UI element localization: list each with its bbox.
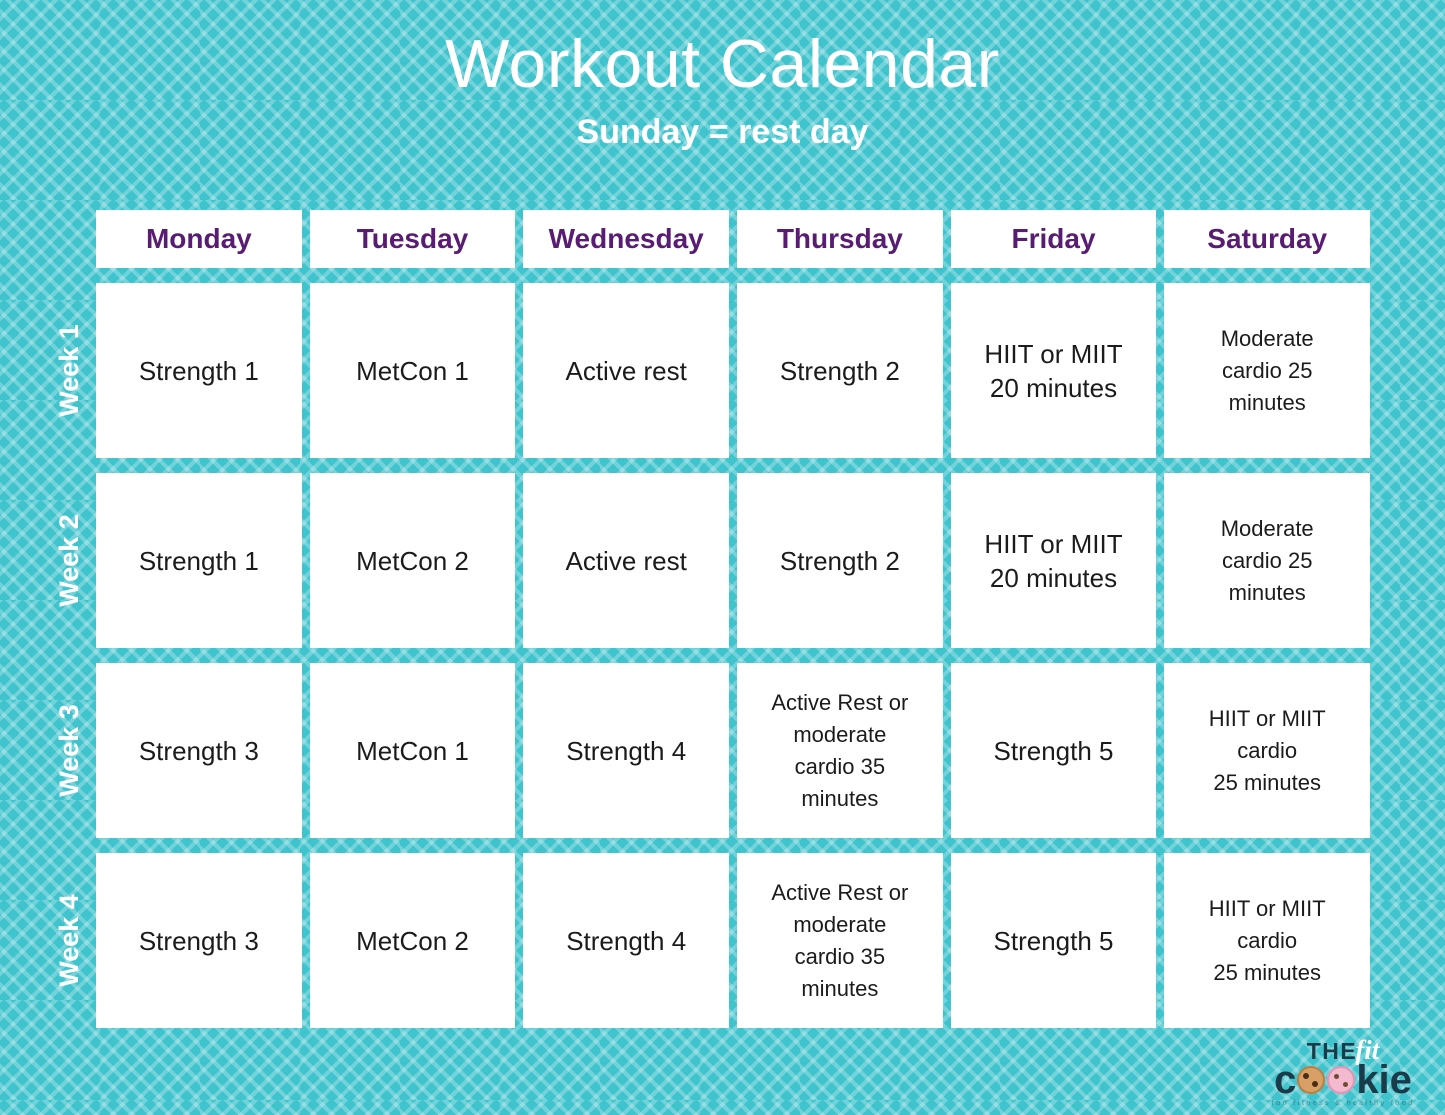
week-label-week-1: Week 1 [42,283,96,458]
cell-text: Strength 3 [139,924,259,958]
cell-text: Strength 2 [780,354,900,388]
cell-week3-friday[interactable]: Strength 5 [951,663,1157,838]
cell-text: Strength 1 [139,354,259,388]
cell-week3-wednesday[interactable]: Strength 4 [523,663,729,838]
cell-text: HIIT or MIIT 20 minutes [984,527,1122,595]
cell-week1-thursday[interactable]: Strength 2 [737,283,943,458]
week-3-cells: Strength 3 MetCon 1 Strength 4 Active Re… [96,663,1370,838]
calendar-row-week-4: Week 4 Strength 3 MetCon 2 Strength 4 Ac… [42,853,1370,1028]
calendar-row-week-3: Week 3 Strength 3 MetCon 1 Strength 4 Ac… [42,663,1370,838]
page-content: Workout Calendar Sunday = rest day Monda… [0,0,1445,1115]
calendar-grid: Monday Tuesday Wednesday Thursday Friday [42,210,1370,1028]
day-header-saturday[interactable]: Saturday [1164,210,1370,268]
calendar-header-row: Monday Tuesday Wednesday Thursday Friday [42,210,1370,268]
cell-week1-monday[interactable]: Strength 1 [96,283,302,458]
cell-week2-tuesday[interactable]: MetCon 2 [310,473,516,648]
day-header-friday[interactable]: Friday [951,210,1157,268]
cell-text: Strength 5 [994,734,1114,768]
week-2-cells: Strength 1 MetCon 2 Active rest Strength… [96,473,1370,648]
week-4-cells: Strength 3 MetCon 2 Strength 4 Active Re… [96,853,1370,1028]
day-header-thursday[interactable]: Thursday [737,210,943,268]
cell-text: Strength 4 [566,734,686,768]
week-label-text: Week 3 [54,704,85,797]
cell-week1-saturday[interactable]: Moderate cardio 25 minutes [1164,283,1370,458]
day-header-label: Friday [1012,223,1096,255]
cell-week2-saturday[interactable]: Moderate cardio 25 minutes [1164,473,1370,648]
week-label-week-3: Week 3 [42,663,96,838]
cell-week4-saturday[interactable]: HIIT or MIIT cardio 25 minutes [1164,853,1370,1028]
cell-text: Active rest [565,544,686,578]
cell-text: HIIT or MIIT 20 minutes [984,337,1122,405]
day-header-label: Wednesday [549,223,704,255]
cell-text: MetCon 1 [356,354,469,388]
cell-text: HIIT or MIIT cardio 25 minutes [1209,703,1326,799]
cell-text: HIIT or MIIT cardio 25 minutes [1209,893,1326,989]
cell-week1-wednesday[interactable]: Active rest [523,283,729,458]
day-header-label: Tuesday [357,223,469,255]
logo-the-text: THE [1307,1038,1358,1064]
week-label-week-2: Week 2 [42,473,96,648]
day-header-wednesday[interactable]: Wednesday [523,210,729,268]
week-label-text: Week 4 [54,894,85,987]
page-title: Workout Calendar [0,24,1445,104]
cell-text: Moderate cardio 25 minutes [1221,513,1314,609]
cell-text: Active Rest or moderate cardio 35 minute… [771,877,908,1005]
cell-week4-tuesday[interactable]: MetCon 2 [310,853,516,1028]
cell-week1-tuesday[interactable]: MetCon 1 [310,283,516,458]
thefitcookie-logo[interactable]: THEfit c kie fun fitness & healthy food [1259,1037,1427,1109]
cell-week3-tuesday[interactable]: MetCon 1 [310,663,516,838]
cell-text: Strength 1 [139,544,259,578]
week-label-week-4: Week 4 [42,853,96,1028]
week-label-spacer [42,210,96,268]
cell-week3-saturday[interactable]: HIIT or MIIT cardio 25 minutes [1164,663,1370,838]
cell-text: Moderate cardio 25 minutes [1221,323,1314,419]
cell-week3-monday[interactable]: Strength 3 [96,663,302,838]
calendar-row-week-2: Week 2 Strength 1 MetCon 2 Active rest S… [42,473,1370,648]
day-header-label: Saturday [1207,223,1327,255]
cell-week2-monday[interactable]: Strength 1 [96,473,302,648]
cell-week2-thursday[interactable]: Strength 2 [737,473,943,648]
workout-calendar-page: Workout Calendar Sunday = rest day Monda… [0,0,1445,1115]
cell-text: Strength 5 [994,924,1114,958]
cell-text: Active Rest or moderate cardio 35 minute… [771,687,908,815]
row-divider [42,458,1370,473]
row-divider [42,268,1370,283]
cookie-icon [1297,1066,1325,1094]
cell-week3-thursday[interactable]: Active Rest or moderate cardio 35 minute… [737,663,943,838]
day-header-cells: Monday Tuesday Wednesday Thursday Friday [96,210,1370,268]
cell-text: Strength 4 [566,924,686,958]
week-label-text: Week 1 [54,324,85,417]
logo-cookie-word: c kie [1259,1063,1427,1097]
day-header-tuesday[interactable]: Tuesday [310,210,516,268]
title-block: Workout Calendar Sunday = rest day [0,0,1445,156]
cell-text: Strength 2 [780,544,900,578]
cell-week4-monday[interactable]: Strength 3 [96,853,302,1028]
week-1-cells: Strength 1 MetCon 1 Active rest Strength… [96,283,1370,458]
cell-text: MetCon 1 [356,734,469,768]
row-divider [42,838,1370,853]
cell-text: Active rest [565,354,686,388]
row-divider [42,648,1370,663]
cell-text: MetCon 2 [356,544,469,578]
cell-week4-thursday[interactable]: Active Rest or moderate cardio 35 minute… [737,853,943,1028]
cell-week1-friday[interactable]: HIIT or MIIT 20 minutes [951,283,1157,458]
cell-week4-friday[interactable]: Strength 5 [951,853,1157,1028]
page-subtitle: Sunday = rest day [0,108,1445,156]
calendar-row-week-1: Week 1 Strength 1 MetCon 1 Active rest S… [42,283,1370,458]
day-header-label: Thursday [777,223,903,255]
week-label-text: Week 2 [54,514,85,607]
cell-text: Strength 3 [139,734,259,768]
frosted-cookie-icon [1327,1066,1355,1094]
cell-week2-wednesday[interactable]: Active rest [523,473,729,648]
logo-word-end: kie [1356,1060,1412,1100]
logo-word-start: c [1274,1060,1296,1100]
day-header-label: Monday [146,223,252,255]
cell-week4-wednesday[interactable]: Strength 4 [523,853,729,1028]
cell-week2-friday[interactable]: HIIT or MIIT 20 minutes [951,473,1157,648]
day-header-monday[interactable]: Monday [96,210,302,268]
cell-text: MetCon 2 [356,924,469,958]
